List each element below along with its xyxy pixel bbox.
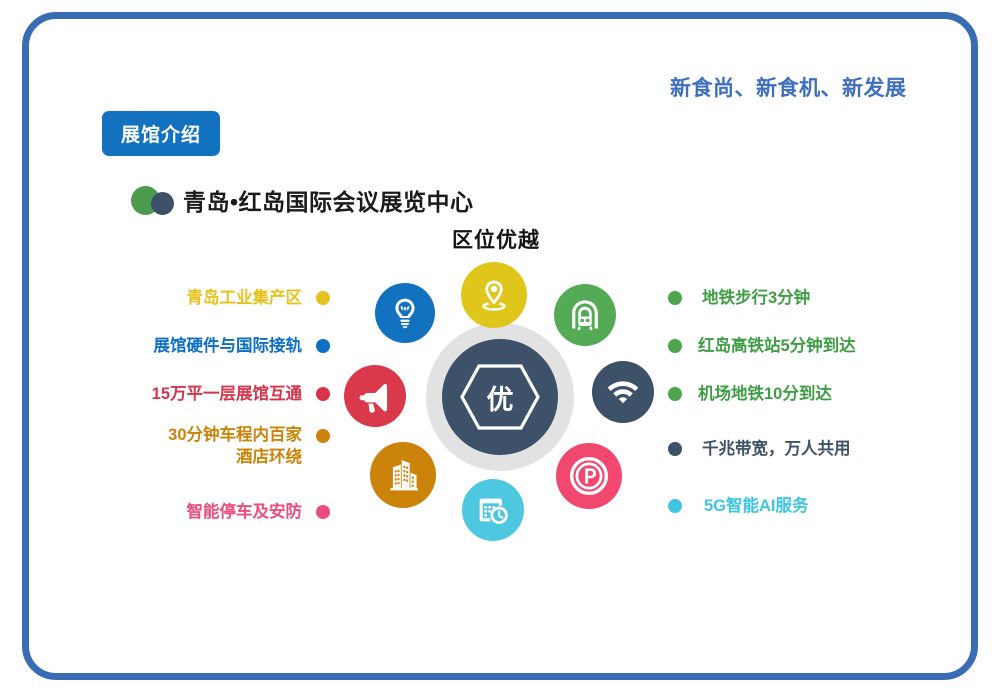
list-item[interactable]: 智能停车及安防 bbox=[120, 486, 330, 538]
feature-label: 机场地铁10分到达 bbox=[698, 383, 832, 405]
venue-logo-icon bbox=[131, 185, 183, 215]
map-pin-icon[interactable] bbox=[461, 262, 527, 328]
slide-canvas: 新食尚、新食机、新发展 展馆介绍 青岛•红岛国际会议展览中心 区位优越 青岛工业… bbox=[0, 0, 1000, 696]
bullet-dot-icon bbox=[316, 505, 330, 519]
section-badge: 展馆介绍 bbox=[102, 111, 220, 156]
lightbulb-icon[interactable] bbox=[375, 283, 435, 343]
hexagon-icon: 优 bbox=[458, 361, 542, 433]
list-item[interactable]: 机场地铁10分到达 bbox=[668, 370, 938, 418]
feature-label: 红岛高铁站5分钟到达 bbox=[698, 335, 856, 357]
subway-icon[interactable] bbox=[554, 284, 616, 346]
calendar-clock-icon[interactable] bbox=[462, 479, 524, 541]
bullet-dot-icon bbox=[316, 339, 330, 353]
feature-list-right: 地铁步行3分钟 红岛高铁站5分钟到达 机场地铁10分到达 千兆带宽，万人共用 5… bbox=[668, 274, 938, 532]
feature-label: 15万平一层展馆互通 bbox=[152, 383, 302, 405]
feature-label: 千兆带宽，万人共用 bbox=[702, 438, 851, 460]
bullet-dot-icon bbox=[668, 387, 682, 401]
list-item[interactable]: 千兆带宽，万人共用 bbox=[668, 418, 938, 480]
bullet-dot-icon bbox=[316, 387, 330, 401]
bullet-dot-icon bbox=[668, 499, 682, 513]
venue-name: 青岛•红岛国际会议展览中心 bbox=[183, 183, 474, 217]
buildings-icon[interactable] bbox=[370, 442, 436, 508]
hub-emblem: 优 bbox=[442, 339, 558, 455]
list-item[interactable]: 5G智能AI服务 bbox=[668, 480, 938, 532]
list-item[interactable]: 红岛高铁站5分钟到达 bbox=[668, 322, 938, 370]
bullet-dot-icon bbox=[668, 291, 682, 305]
feature-label: 智能停车及安防 bbox=[187, 501, 303, 523]
venue-row: 青岛•红岛国际会议展览中心 bbox=[131, 183, 474, 217]
feature-label: 展馆硬件与国际接轨 bbox=[154, 335, 303, 357]
bullet-dot-icon bbox=[316, 291, 330, 305]
list-item[interactable]: 地铁步行3分钟 bbox=[668, 274, 938, 322]
feature-label: 30分钟车程内百家 酒店环绕 bbox=[168, 424, 302, 469]
center-title-label: 区位优越 bbox=[452, 229, 540, 252]
parking-icon[interactable] bbox=[556, 443, 622, 509]
megaphone-icon[interactable] bbox=[344, 365, 406, 427]
feature-wheel: 优 bbox=[330, 250, 670, 570]
wifi-icon[interactable] bbox=[592, 361, 654, 423]
section-badge-label: 展馆介绍 bbox=[121, 120, 201, 147]
bullet-dot-icon bbox=[668, 339, 682, 353]
bullet-dot-icon bbox=[316, 429, 330, 443]
list-item[interactable]: 30分钟车程内百家 酒店环绕 bbox=[120, 418, 330, 486]
slogan-text: 新食尚、新食机、新发展 bbox=[670, 72, 907, 102]
bullet-dot-icon bbox=[668, 442, 682, 456]
feature-label: 地铁步行3分钟 bbox=[702, 287, 810, 309]
hub-character: 优 bbox=[487, 378, 514, 417]
feature-list-left: 青岛工业集产区 展馆硬件与国际接轨 15万平一层展馆互通 30分钟车程内百家 酒… bbox=[120, 274, 330, 538]
feature-label: 5G智能AI服务 bbox=[704, 495, 809, 517]
list-item[interactable]: 青岛工业集产区 bbox=[120, 274, 330, 322]
feature-label: 青岛工业集产区 bbox=[187, 287, 303, 309]
list-item[interactable]: 15万平一层展馆互通 bbox=[120, 370, 330, 418]
list-item[interactable]: 展馆硬件与国际接轨 bbox=[120, 322, 330, 370]
